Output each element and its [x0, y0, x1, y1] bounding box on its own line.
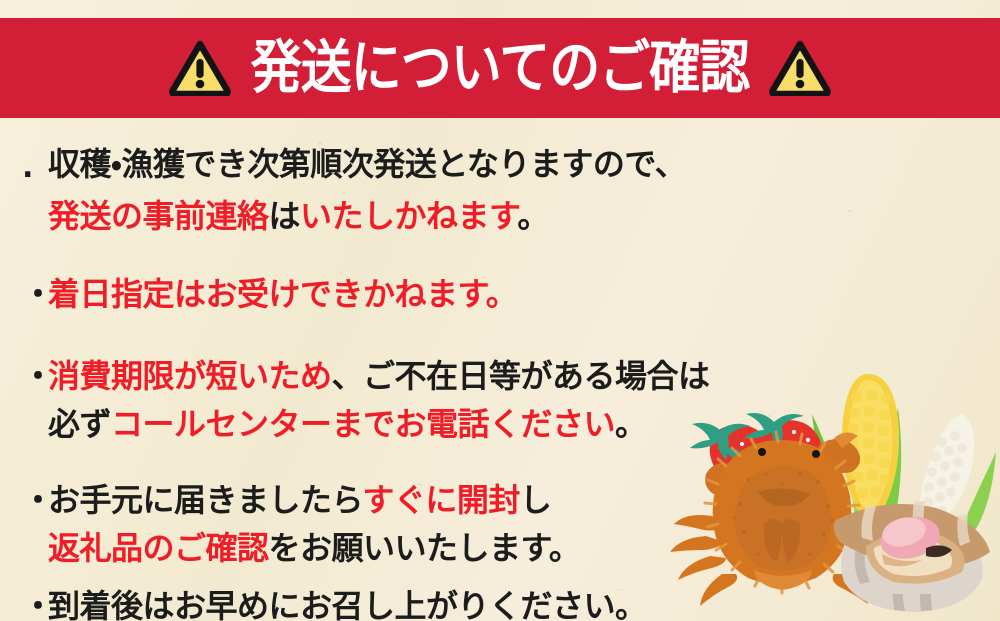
bullet-marker: ・	[22, 352, 48, 400]
yellow-corn-icon	[842, 374, 899, 517]
notice-text: 。	[615, 405, 647, 443]
notice-list: .収穫・漁獲でき次第順次発送となりますので、 発送の事前連絡はいたしかねます。 …	[22, 140, 822, 621]
notice-text: 到着後はお早めにお召し上がりください。	[48, 587, 647, 621]
notice-page: 発送についてのご確認 .収穫・漁獲でき次第順次発送となりますので、 発送の事前連…	[0, 0, 1000, 621]
bullet-marker: ・	[22, 476, 48, 524]
bullet-marker: .	[22, 144, 48, 192]
list-item: ・お手元に届きましたらすぐに開封し 返礼品のご確認をお願いいたします。	[22, 476, 822, 572]
scallop-shellfish-icon	[834, 501, 990, 612]
notice-line: ・お手元に届きましたらすぐに開封し	[22, 476, 822, 524]
notice-text: 必ず	[48, 405, 111, 443]
notice-line: ・着日指定はお受けできかねます。	[22, 270, 822, 318]
notice-text-emphasis: すぐに開封	[362, 481, 520, 519]
bullet-marker: ・	[22, 582, 48, 621]
list-item: ・消費期限が短いため、ご不在日等がある場合は 必ずコールセンターまでお電話くださ…	[22, 352, 822, 448]
notice-text-emphasis: 着日指定はお受けできかねます。	[48, 275, 517, 313]
list-item: .収穫・漁獲でき次第順次発送となりますので、 発送の事前連絡はいたしかねます。	[22, 140, 822, 240]
warning-triangle-icon	[169, 40, 231, 96]
notice-line: .収穫・漁獲でき次第順次発送となりますので、	[22, 140, 822, 192]
notice-text-emphasis: 発送の事前連絡	[48, 197, 269, 235]
notice-line: 発送の事前連絡はいたしかねます。	[22, 192, 822, 240]
notice-text-emphasis: コールセンターまでお電話ください	[111, 405, 615, 443]
notice-text: 、ご不在日等がある場合は	[332, 357, 710, 395]
notice-text: をお願いいたします。	[269, 529, 581, 567]
notice-line: ・到着後はお早めにお召し上がりください。	[22, 582, 822, 621]
notice-text-emphasis: いたしかねます	[300, 197, 517, 235]
notice-text-emphasis: 返礼品のご確認	[48, 529, 269, 567]
corn-leaves-icon	[812, 408, 996, 538]
page-title: 発送についてのご確認	[251, 39, 749, 96]
list-item: ・着日指定はお受けできかねます。	[22, 270, 822, 318]
notice-text: 。	[517, 197, 549, 235]
warning-triangle-icon	[769, 40, 831, 96]
bullet-marker: ・	[22, 270, 48, 318]
notice-line: 必ずコールセンターまでお電話ください。	[22, 400, 822, 448]
notice-text-emphasis: 消費期限が短いため	[48, 357, 332, 395]
notice-text: 収穫・漁獲でき次第順次発送となりますので、	[48, 145, 686, 183]
notice-text: し	[520, 481, 552, 519]
notice-line: ・消費期限が短いため、ご不在日等がある場合は	[22, 352, 822, 400]
notice-line: 返礼品のご確認をお願いいたします。	[22, 524, 822, 572]
list-item: ・到着後はお早めにお召し上がりください。	[22, 582, 822, 621]
notice-text: お手元に届きましたら	[48, 481, 362, 519]
white-corn-icon	[920, 414, 974, 528]
header-banner: 発送についてのご確認	[0, 18, 1000, 118]
notice-text: は	[269, 197, 301, 235]
